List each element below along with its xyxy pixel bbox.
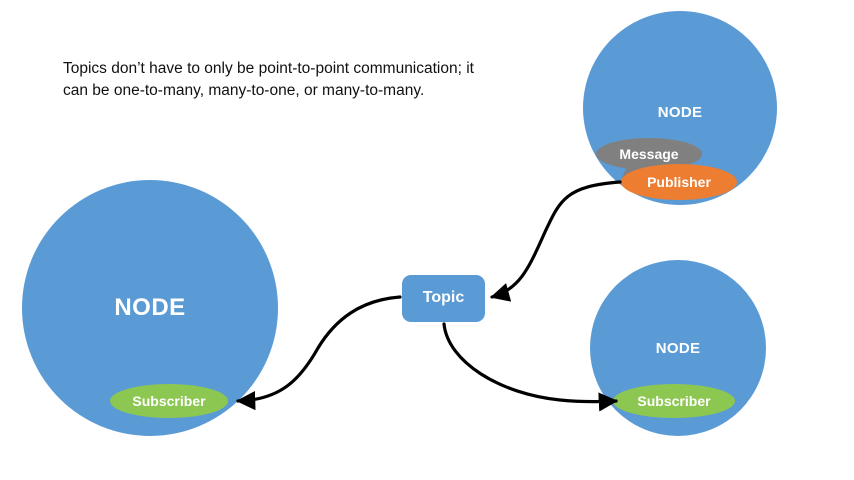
arrow-topic-to-subscriber-bottom-right: [444, 324, 616, 402]
subscriber-pill-bottom-right[interactable]: [613, 384, 735, 418]
diagram-canvas: Topics don’t have to only be point-to-po…: [0, 0, 854, 480]
topic-box[interactable]: [402, 275, 485, 322]
arrow-publisher-to-topic: [492, 182, 620, 297]
subscriber-pill-left[interactable]: [110, 384, 228, 418]
caption-text: Topics don’t have to only be point-to-po…: [63, 58, 483, 103]
publisher-pill-top-right[interactable]: [621, 164, 737, 200]
